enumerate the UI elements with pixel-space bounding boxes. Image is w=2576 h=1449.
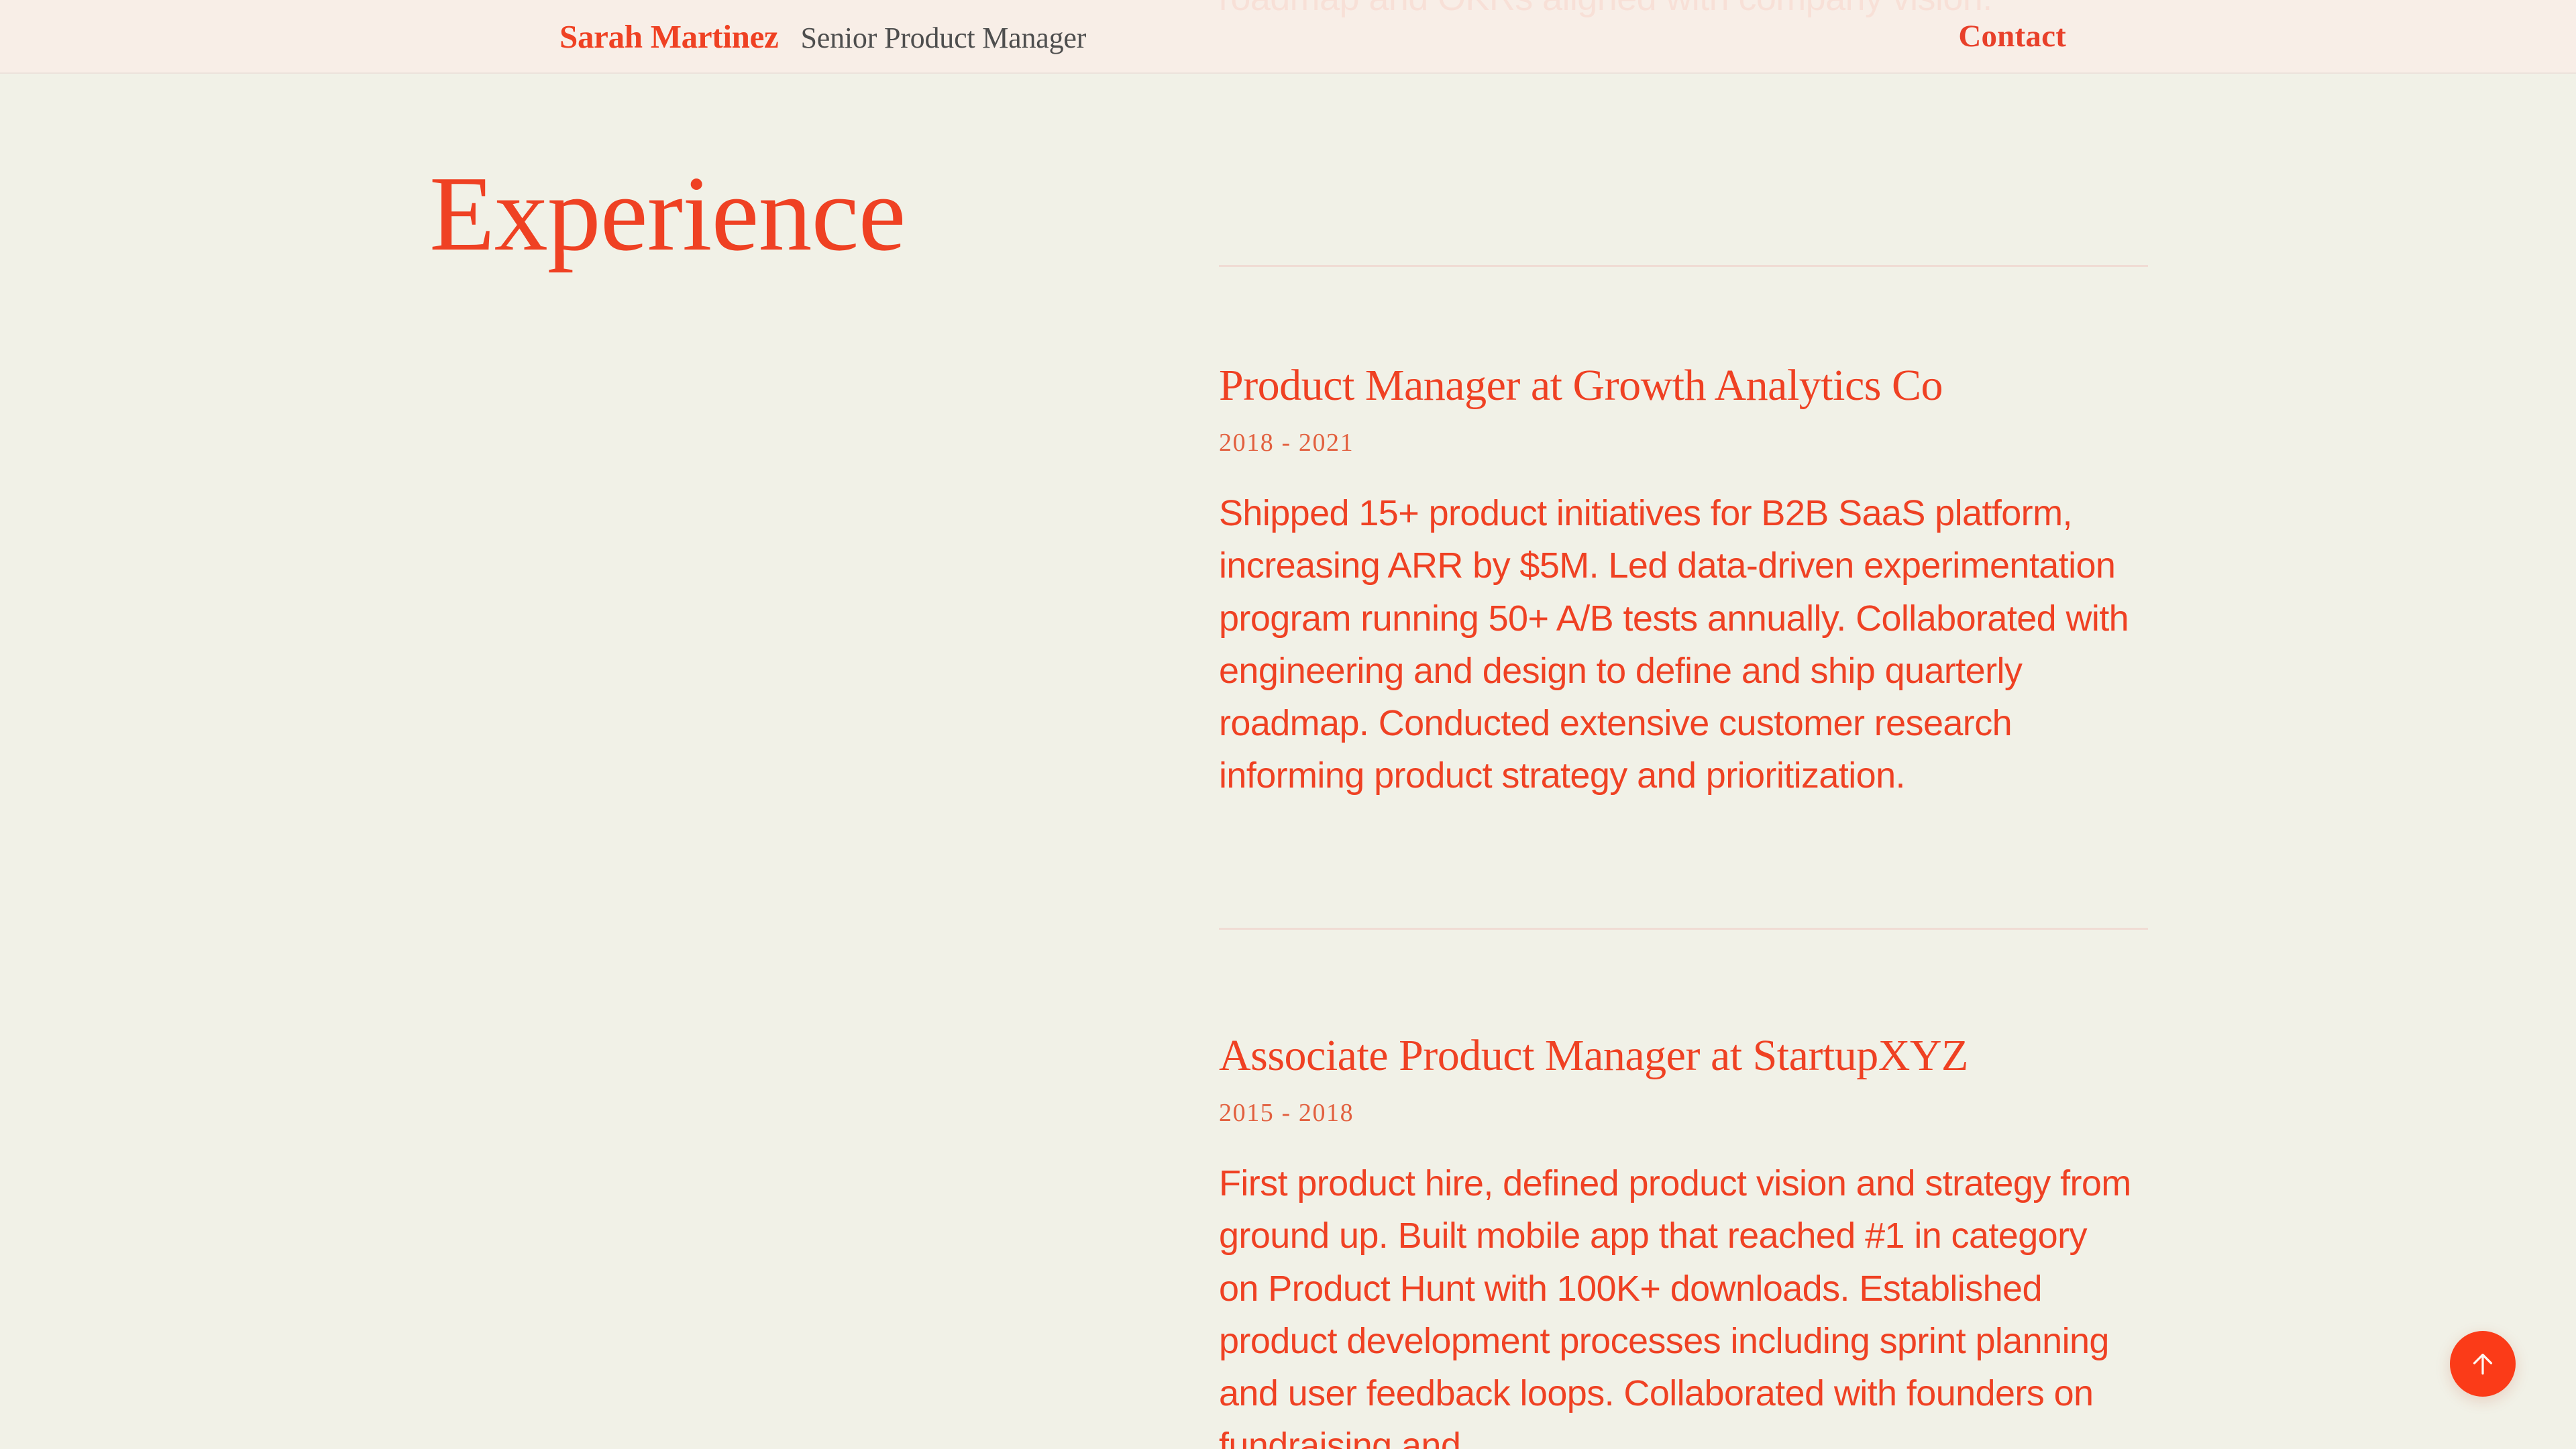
entry-description: First product hire, defined product visi… xyxy=(1219,1157,2131,1449)
brand[interactable]: Sarah Martinez Senior Product Manager xyxy=(559,17,1086,56)
brand-role: Senior Product Manager xyxy=(800,21,1086,55)
page-root: engineers, designers, and analysts. Defi… xyxy=(0,0,2576,1449)
entry-divider xyxy=(1219,928,2148,930)
brand-name[interactable]: Sarah Martinez xyxy=(559,17,778,56)
scroll-to-top-button[interactable] xyxy=(2450,1331,2516,1397)
nav-link-contact[interactable]: Contact xyxy=(1958,18,2066,54)
entry-description: Shipped 15+ product initiatives for B2B … xyxy=(1219,487,2131,802)
entry-dates: 2015 - 2018 xyxy=(1219,1098,2151,1128)
entry-title: Product Manager at Growth Analytics Co xyxy=(1219,361,2151,411)
entry-divider xyxy=(1219,265,2148,267)
entry-dates: 2018 - 2021 xyxy=(1219,428,2151,458)
page-title: Experience xyxy=(429,160,906,267)
site-header: Sarah Martinez Senior Product Manager Co… xyxy=(0,0,2576,74)
arrow-up-icon xyxy=(2467,1348,2498,1379)
experience-entry: Product Manager at Growth Analytics Co 2… xyxy=(1219,361,2151,802)
experience-entry: Associate Product Manager at StartupXYZ … xyxy=(1219,1031,2151,1449)
entry-title: Associate Product Manager at StartupXYZ xyxy=(1219,1031,2151,1081)
